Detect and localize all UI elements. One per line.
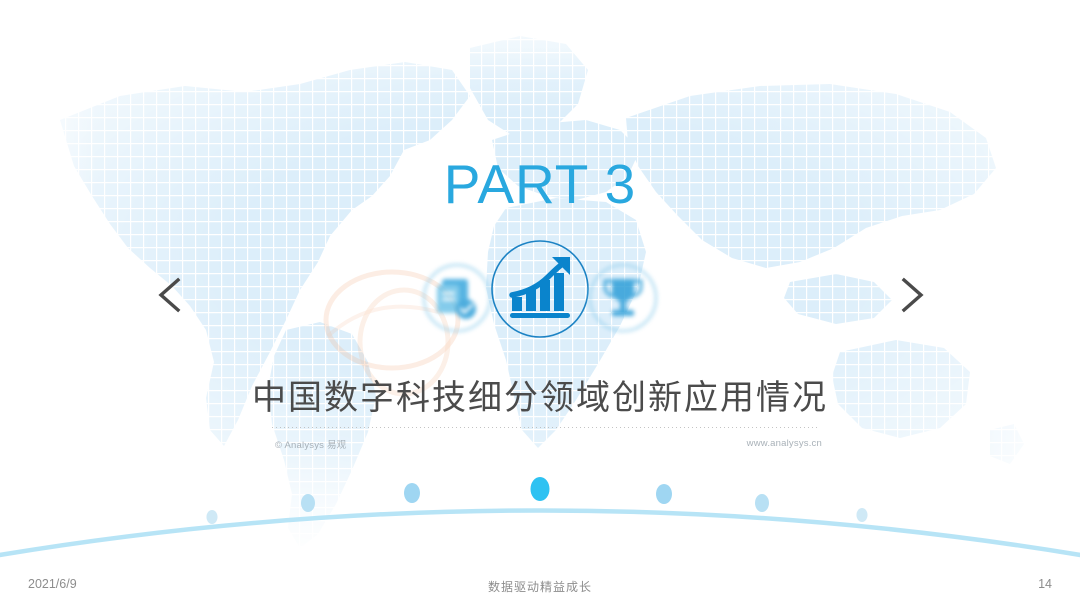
website-url: www.analysys.cn [747,438,822,449]
arc-dot-active [531,477,550,501]
arc-dot [857,508,868,522]
footer-page-number: 14 [1038,577,1052,591]
arc-dot [755,494,769,512]
chevron-right-icon[interactable] [888,272,934,318]
arc-dot [207,510,218,524]
page-title: 中国数字科技细分领域创新应用情况 [0,370,1080,419]
document-check-icon [420,261,494,335]
copyright-text: © Analysys 易观 [275,437,346,451]
bar-chart-growth-icon [488,237,592,341]
title-divider [272,427,820,428]
part-label: PART 3 [0,152,1080,216]
arc-dot [656,484,672,504]
footer-tagline: 数据驱动精益成长 [0,578,1080,595]
chevron-left-icon[interactable] [148,272,194,318]
arc-dot [301,494,315,512]
progress-arc [0,455,1080,560]
footer-bar: 2021/6/9 数据驱动精益成长 14 [0,568,1080,608]
arc-dot [404,483,420,503]
trophy-icon [586,261,660,335]
slide-root: PART 3 [0,0,1080,608]
icon-cluster [408,237,672,359]
